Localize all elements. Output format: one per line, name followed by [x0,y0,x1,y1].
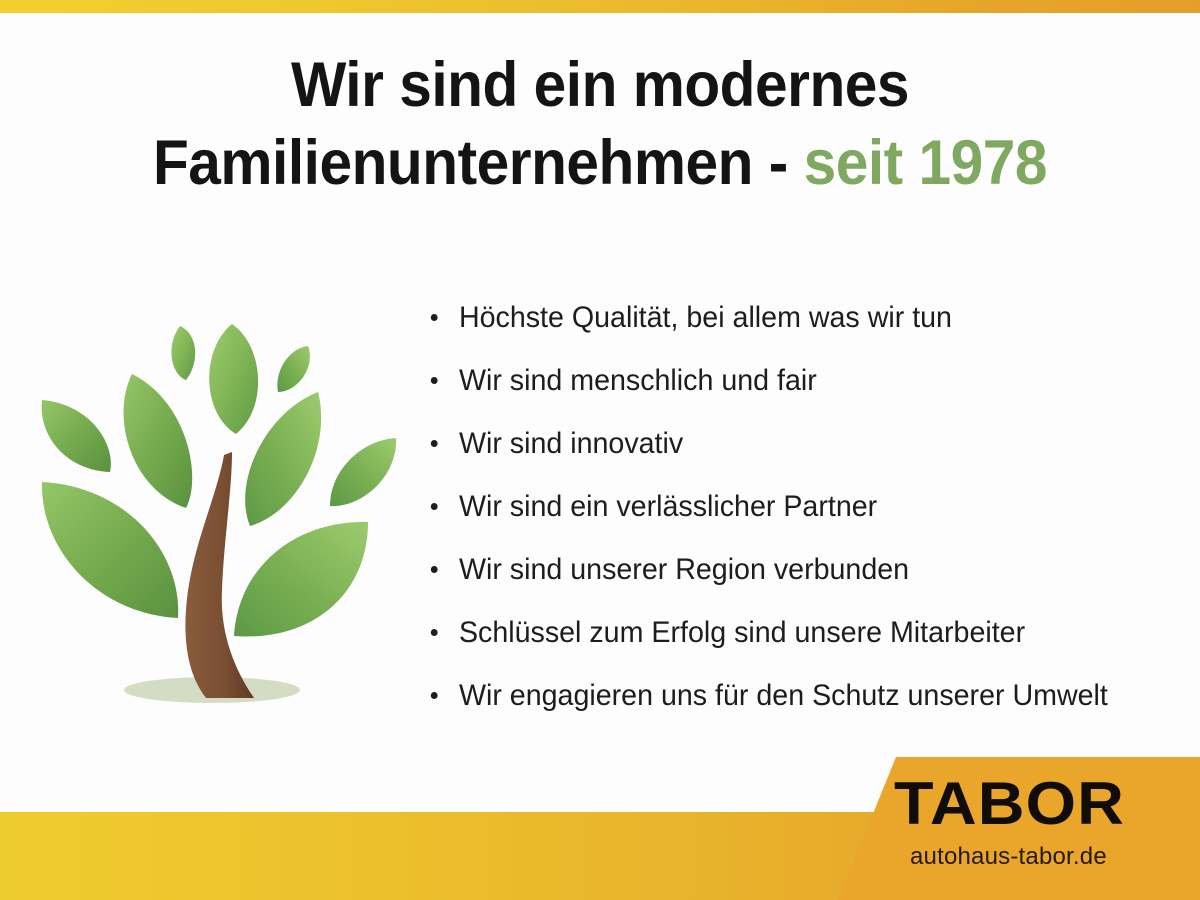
bullet-icon [431,692,438,699]
bullet-icon [431,377,438,384]
headline-line-2-main: Familienunternehmen - [153,128,804,198]
logo-panel[interactable]: TABOR autohaus-tabor.de [830,752,1200,900]
top-accent-bar [0,0,1200,13]
list-item: Wir sind innovativ [425,412,1167,475]
list-item: Höchste Qualität, bei allem was wir tun [425,286,1167,349]
list-item-label: Wir engagieren uns für den Schutz unsere… [459,679,1108,712]
list-item-label: Höchste Qualität, bei allem was wir tun [459,301,952,334]
bullet-icon [431,629,438,636]
list-item-label: Wir sind menschlich und fair [459,364,817,397]
tree-illustration [20,300,420,720]
list-item: Wir sind menschlich und fair [425,349,1167,412]
brand-website-url: autohaus-tabor.de [910,844,1107,870]
list-item: Schlüssel zum Erfolg sind unsere Mitarbe… [425,601,1167,664]
headline-line-2: Familienunternehmen - seit 1978 [42,124,1158,202]
tree-leaf-top-center [209,324,258,434]
tree-leaf-left-small [42,400,111,472]
list-item-label: Wir sind unserer Region verbunden [459,553,909,586]
brand-wordmark: TABOR [894,774,1125,834]
list-item-label: Wir sind innovativ [459,427,683,460]
list-item-label: Wir sind ein verlässlicher Partner [459,490,877,523]
bullet-icon [431,503,438,510]
headline-line-1: Wir sind ein modernes [42,46,1158,124]
slide-canvas: Wir sind ein modernes Familienunternehme… [0,0,1200,900]
list-item: Wir sind ein verlässlicher Partner [425,475,1167,538]
list-item: Wir engagieren uns für den Schutz unsere… [425,664,1167,727]
headline-accent-year: seit 1978 [804,128,1047,198]
tree-leaf-top-right [277,346,310,392]
tree-leaf-right-small [330,438,396,506]
bullet-icon [431,314,438,321]
list-item-label: Schlüssel zum Erfolg sind unsere Mitarbe… [459,616,1025,649]
page-title: Wir sind ein modernes Familienunternehme… [42,46,1158,202]
tree-leaf-top-left [171,326,195,380]
tree-leaf-upper-left [124,374,193,508]
bullet-icon [431,440,438,447]
tree-trunk [185,452,254,698]
tree-leaf-upper-right [245,392,321,526]
value-list: Höchste Qualität, bei allem was wir tun … [425,286,1190,727]
bullet-icon [431,566,438,573]
tree-leaf-lower-left [42,482,178,618]
list-item: Wir sind unserer Region verbunden [425,538,1167,601]
tree-leaf-lower-right [234,522,368,637]
